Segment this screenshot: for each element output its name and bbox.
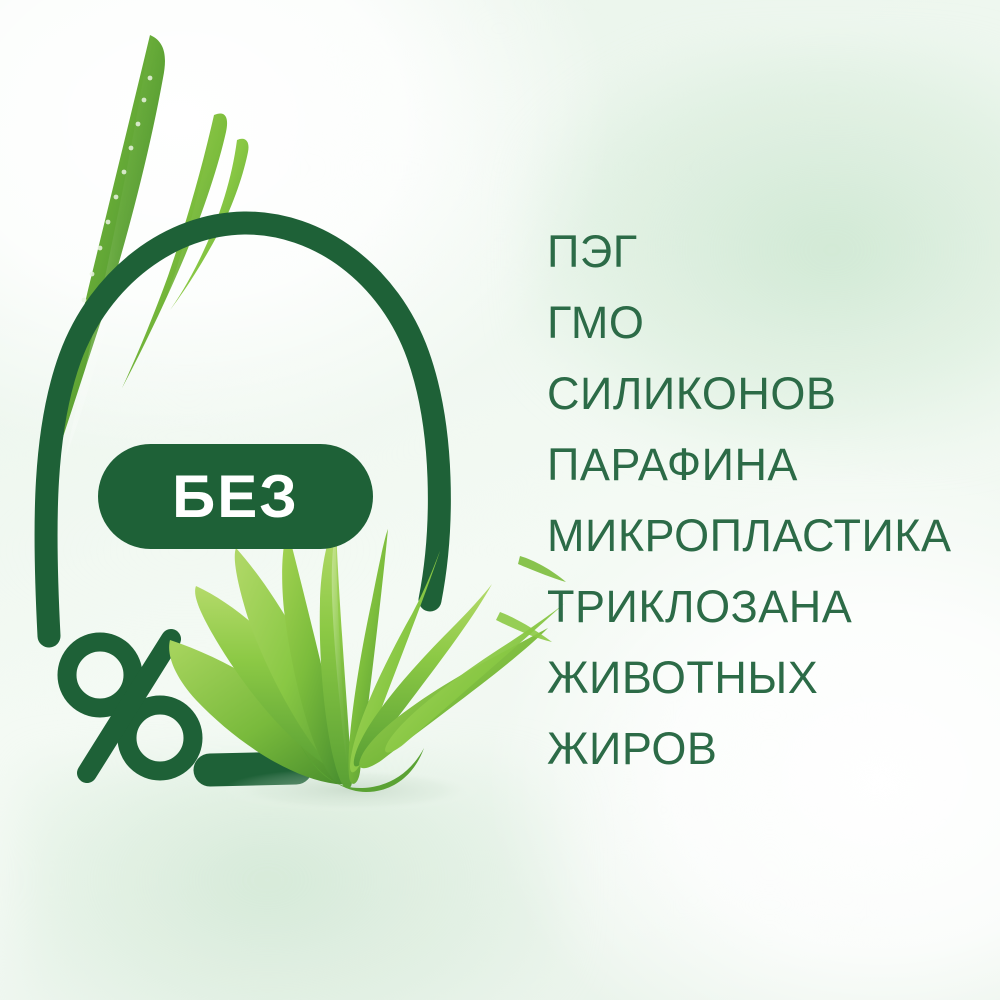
list-item: ТРИКЛОЗАНА [547, 571, 977, 642]
bez-badge: БЕЗ [98, 444, 373, 549]
promo-poster: БЕЗ ПЭГ ГМО СИЛИКОНОВ ПАРАФИНА МИКРОПЛАС… [0, 0, 1000, 1000]
list-item: ГМО [547, 287, 977, 358]
bez-badge-label: БЕЗ [172, 467, 299, 527]
list-item: ЖИРОВ [547, 713, 977, 784]
list-item: ПАРАФИНА [547, 429, 977, 500]
zero-digit-tail [210, 768, 296, 770]
list-item: СИЛИКОНОВ [547, 358, 977, 429]
excluded-ingredients-list: ПЭГ ГМО СИЛИКОНОВ ПАРАФИНА МИКРОПЛАСТИКА… [547, 216, 977, 784]
list-item: МИКРОПЛАСТИКА [547, 500, 977, 571]
zero-tail-stroke [210, 768, 296, 770]
list-item: ЖИВОТНЫХ [547, 642, 977, 713]
list-item: ПЭГ [547, 216, 977, 287]
